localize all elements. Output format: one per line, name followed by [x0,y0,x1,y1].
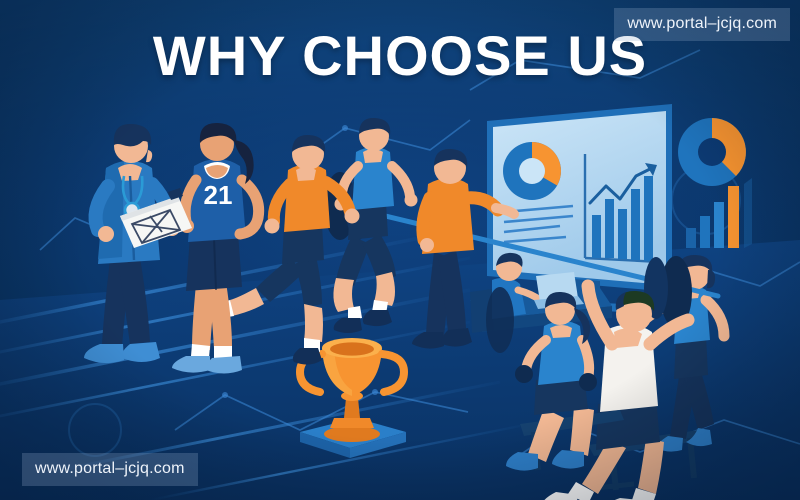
illustration-canvas: 21 [0,0,800,500]
watermark-top-right: www.portal–jcjq.com [614,8,790,41]
watermark-bottom-left: www.portal–jcjq.com [22,453,198,486]
